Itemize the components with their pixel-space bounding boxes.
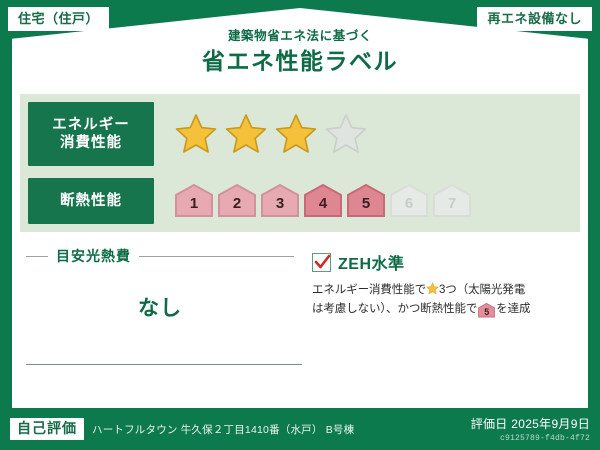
energy-performance-row: エネルギー 消費性能 (20, 98, 580, 170)
zeh-desc-part4: を達成 (496, 303, 530, 315)
heading-rule-right (139, 256, 294, 257)
star-filled-icon (274, 112, 318, 156)
energy-label-line2: 消費性能 (60, 134, 122, 152)
energy-label-card: 住宅（住戸） 再エネ設備なし 建築物省エネ法に基づく 省エネ性能ラベル エネルギ… (0, 0, 600, 450)
star-icon (426, 282, 439, 295)
zeh-section: ZEH水準 エネルギー消費性能で3つ（太陽光発電は考慮しない）、かつ断熱性能で5… (308, 238, 588, 408)
evaluation-meta: 評価日 2025年9月9日 c9125789-f4db-4f72 (471, 415, 590, 443)
evaluation-id: c9125789-f4db-4f72 (471, 434, 590, 443)
evaluation-date-value: 2025年9月9日 (511, 417, 590, 431)
property-address: ハートフルタウン 牛久保２丁目1410番（水戸） B号棟 (92, 422, 471, 437)
ratings-band: エネルギー 消費性能 断熱性能 1234567 (20, 94, 580, 232)
utility-cost-section: 目安光熱費 なし (12, 238, 308, 408)
zeh-desc-part1: エネルギー消費性能で (312, 284, 426, 296)
header-subtitle: 建築物省エネ法に基づく (0, 30, 600, 44)
evaluation-date-label: 評価日 (471, 417, 508, 431)
zeh-desc-part2: 3つ（太陽光発電 (439, 284, 525, 296)
evaluation-date: 評価日 2025年9月9日 (471, 415, 590, 432)
utility-cost-title: 目安光熱費 (56, 246, 131, 266)
insulation-level-value: 4 (319, 196, 327, 218)
insulation-level-value: 5 (362, 196, 370, 218)
self-evaluation-badge: 自己評価 (10, 418, 84, 440)
star-filled-icon (224, 112, 268, 156)
energy-performance-label: エネルギー 消費性能 (28, 102, 154, 166)
insulation-level-chip: 5 (346, 184, 386, 218)
insulation-level-scale: 1234567 (154, 184, 580, 218)
page-title: 省エネ性能ラベル (0, 49, 600, 74)
insulation-level-chip: 4 (303, 184, 343, 218)
insulation-performance-label: 断熱性能 (28, 178, 154, 224)
energy-label-line1: エネルギー (52, 116, 130, 134)
label-body-panel: エネルギー 消費性能 断熱性能 1234567 目安光熱費 (12, 88, 588, 408)
label-lower-section: 目安光熱費 なし ZEH水準 エネルギー消費性能で3つ（太陽光発電は考慮しな (12, 238, 588, 408)
zeh-desc-part3: は考慮しない）、かつ断熱性能で (312, 303, 477, 315)
star-empty-icon (324, 112, 368, 156)
insulation-level-value: 2 (233, 196, 241, 218)
zeh-description: エネルギー消費性能で3つ（太陽光発電は考慮しない）、かつ断熱性能で5を達成 (312, 281, 574, 318)
insulation-level-chip: 6 (389, 184, 429, 218)
insulation-level-value: 6 (405, 196, 413, 218)
header-text-group: 建築物省エネ法に基づく 省エネ性能ラベル (0, 30, 600, 74)
insulation-level-value: 1 (190, 196, 198, 218)
utility-cost-heading: 目安光熱費 (26, 246, 294, 266)
utility-cost-value: なし (26, 292, 294, 322)
label-footer: 自己評価 ハートフルタウン 牛久保２丁目1410番（水戸） B号棟 評価日 20… (0, 408, 600, 450)
cost-divider (26, 364, 302, 365)
insulation-level-value: 3 (276, 196, 284, 218)
insulation-level-chip: 2 (217, 184, 257, 218)
inline-house-chip: 5 (477, 303, 496, 318)
zeh-title: ZEH水準 (338, 250, 405, 274)
heading-rule-left (26, 256, 48, 257)
house-chip-list: 1234567 (174, 184, 472, 218)
star-rating (154, 112, 580, 156)
check-icon (312, 253, 331, 272)
insulation-level-value: 7 (448, 196, 456, 218)
zeh-heading: ZEH水準 (312, 250, 574, 274)
insulation-level-chip: 3 (260, 184, 300, 218)
star-filled-icon (174, 112, 218, 156)
insulation-label-line1: 断熱性能 (60, 192, 122, 210)
insulation-performance-row: 断熱性能 1234567 (20, 174, 580, 228)
insulation-level-chip: 7 (432, 184, 472, 218)
inline-chip-value: 5 (477, 303, 496, 322)
insulation-level-chip: 1 (174, 184, 214, 218)
